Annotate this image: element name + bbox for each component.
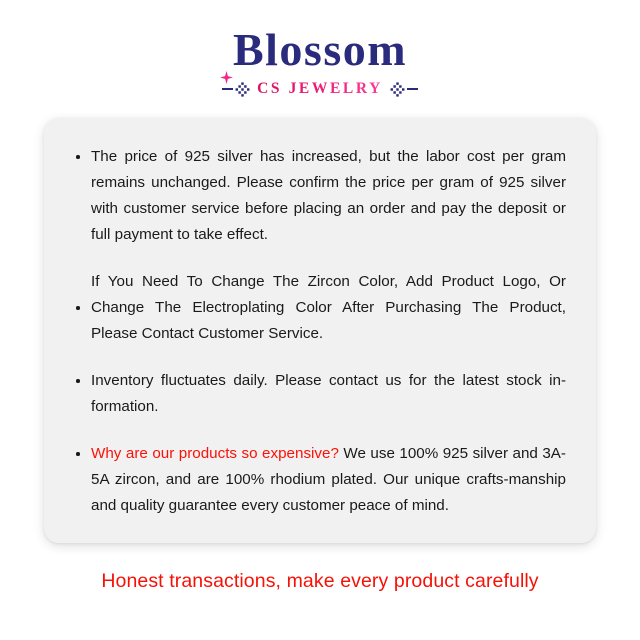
list-item: Why are our products so expensive? We us… [72, 441, 566, 519]
brand-wordmark: Blossom [233, 27, 407, 73]
bullet-dot-icon [76, 306, 80, 310]
notice-card: The price of 925 silver has increased, b… [44, 118, 596, 543]
notice-text: Inventory fluctuates daily. Please conta… [91, 372, 566, 415]
brand-subtitle-row: CS JEWELRY [0, 80, 640, 98]
notice-text: If You Need To Change The Zircon Color, … [91, 273, 566, 342]
brand-subtitle-text: CS JEWELRY [255, 80, 385, 98]
list-item: The price of 925 silver has increased, b… [72, 144, 566, 248]
brand-header: Blossom CS JEWELRY [0, 0, 640, 98]
bullet-dot-icon [76, 155, 80, 159]
notice-highlight: Why are our products so expensive? [91, 445, 339, 462]
notice-list: The price of 925 silver has increased, b… [72, 144, 566, 519]
ornament-diamond-right-icon [390, 82, 418, 97]
list-item: If You Need To Change The Zircon Color, … [72, 269, 566, 347]
list-item: Inventory fluctuates daily. Please conta… [72, 368, 566, 420]
ornament-dash-right-icon [407, 88, 418, 90]
footer-tagline: Honest transactions, make every product … [0, 570, 640, 593]
notice-text: The price of 925 silver has increased, b… [91, 148, 566, 243]
sparkle-icon [220, 46, 233, 59]
bullet-dot-icon [76, 452, 80, 456]
bullet-dot-icon [76, 379, 80, 383]
ornament-dash-left-icon [222, 88, 233, 90]
brand-wordmark-text: Blossom [233, 24, 407, 75]
